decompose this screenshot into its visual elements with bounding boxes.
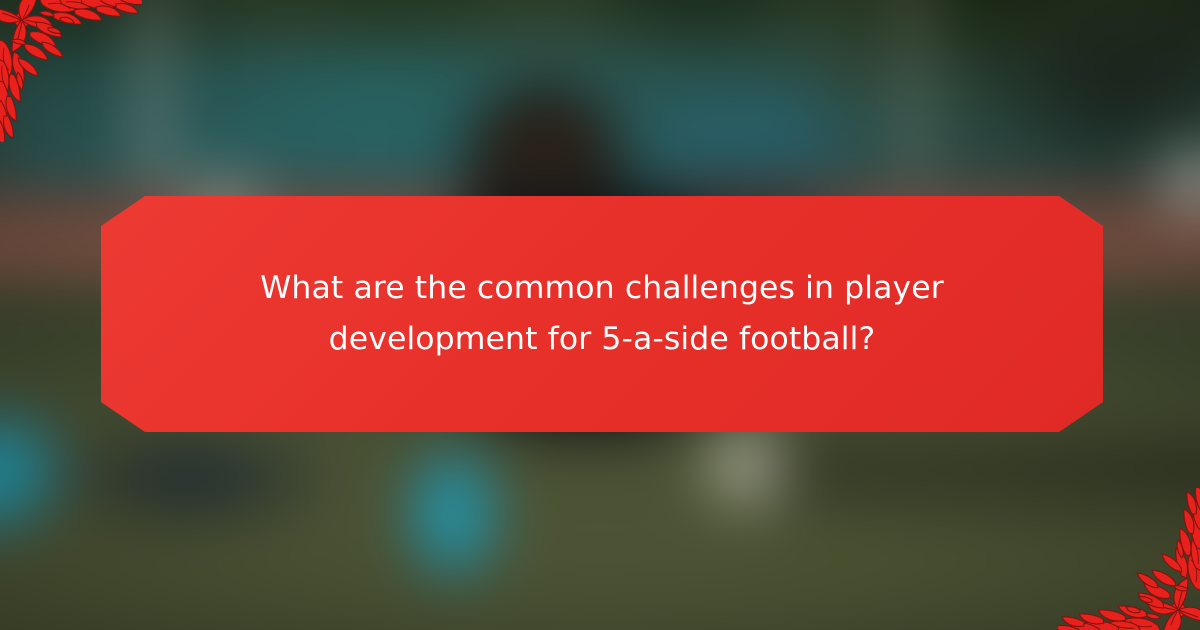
- share-card: What are the common challenges in player…: [0, 0, 1200, 630]
- question-text: What are the common challenges in player…: [222, 263, 982, 365]
- question-banner: What are the common challenges in player…: [101, 196, 1103, 432]
